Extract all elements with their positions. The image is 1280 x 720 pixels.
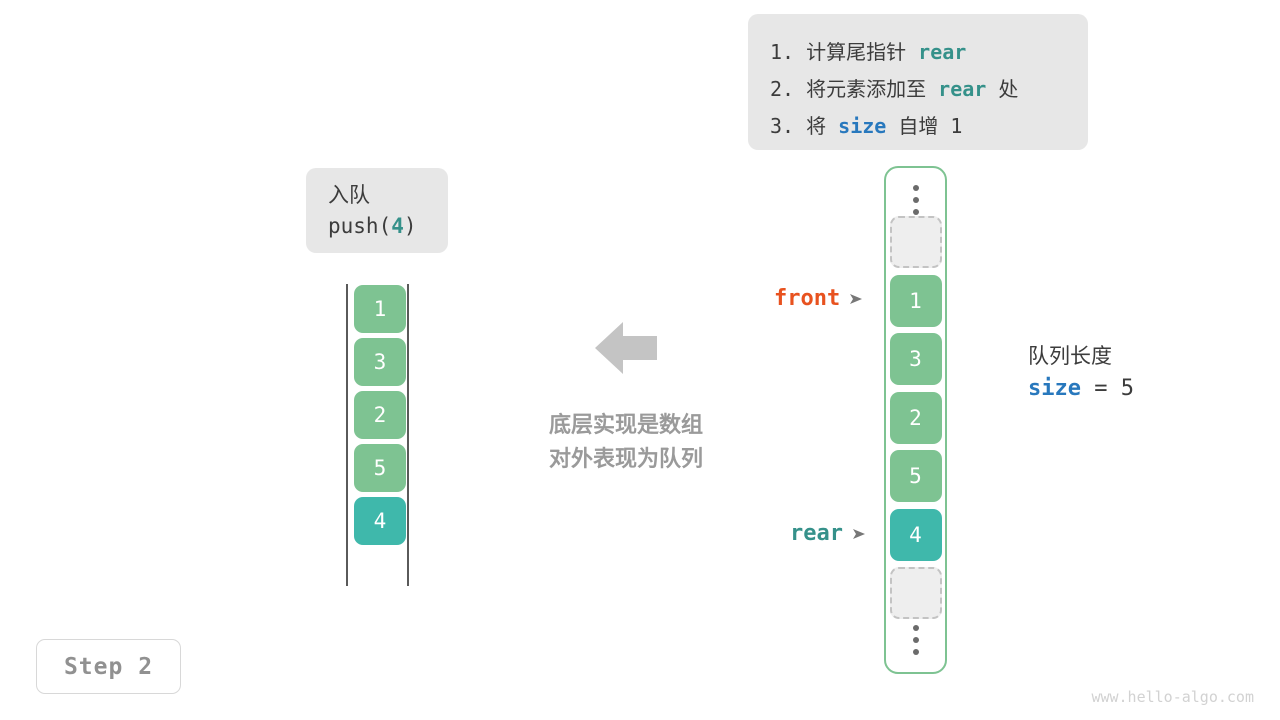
center-caption-line-2: 对外表现为队列 — [506, 442, 746, 476]
instruction-line-1-keyword: rear — [918, 40, 966, 64]
diagram-canvas: 1. 计算尾指针 rear 2. 将元素添加至 rear 处 3. 将 size… — [0, 0, 1280, 720]
size-equals: = — [1081, 376, 1121, 401]
center-caption: 底层实现是数组 对外表现为队列 — [506, 408, 746, 476]
queue-cell: 5 — [354, 444, 406, 492]
center-caption-line-1: 底层实现是数组 — [506, 408, 746, 442]
size-value: 5 — [1121, 376, 1134, 401]
instruction-panel: 1. 计算尾指针 rear 2. 将元素添加至 rear 处 3. 将 size… — [748, 14, 1088, 150]
front-pointer: front — [774, 286, 863, 311]
step-badge: Step 2 — [36, 639, 181, 694]
arrow-right-icon — [852, 527, 866, 541]
instruction-line-2-suffix: 处 — [986, 77, 1018, 101]
operation-label-box: 入队 push(4) — [306, 168, 448, 253]
array-slot-value: 4 — [909, 523, 922, 547]
queue-cell: 4 — [354, 497, 406, 545]
array-slot-value: 5 — [909, 464, 922, 488]
size-info-expression: size = 5 — [1028, 372, 1134, 406]
array-slot-value: 1 — [909, 289, 922, 313]
queue-cell-value: 2 — [374, 403, 387, 427]
instruction-line-3-keyword: size — [838, 114, 886, 138]
queue-rail-left — [346, 284, 348, 586]
rear-pointer: rear — [790, 521, 866, 546]
queue-cell-value: 4 — [374, 509, 387, 533]
queue-cell: 1 — [354, 285, 406, 333]
array-slot-value: 2 — [909, 406, 922, 430]
array-slot-empty — [890, 216, 942, 268]
queue-rail-right — [407, 284, 409, 586]
array-slot-filled: 5 — [890, 450, 942, 502]
array-slot-filled: 1 — [890, 275, 942, 327]
queue-cell-value: 1 — [374, 297, 387, 321]
operation-title: 入队 — [328, 181, 448, 211]
instruction-line-2: 2. 将元素添加至 rear 处 — [770, 71, 1088, 108]
arrow-right-icon — [849, 292, 863, 306]
operation-code-value: 4 — [391, 214, 404, 238]
array-container: 13254 — [884, 166, 947, 674]
watermark: www.hello-algo.com — [1091, 688, 1254, 706]
front-pointer-label: front — [774, 286, 840, 311]
size-info-title: 队列长度 — [1028, 341, 1134, 372]
queue-cell-value: 3 — [374, 350, 387, 374]
array-slot-filled: 4 — [890, 509, 942, 561]
queue-cell: 2 — [354, 391, 406, 439]
instruction-line-2-keyword: rear — [938, 77, 986, 101]
operation-code: push(4) — [328, 211, 448, 242]
array-slot-empty — [890, 567, 942, 619]
size-variable-name: size — [1028, 376, 1081, 401]
step-badge-label: Step 2 — [64, 654, 153, 680]
operation-code-suffix: ) — [404, 214, 417, 238]
array-slot-filled: 3 — [890, 333, 942, 385]
left-arrow-icon — [595, 322, 657, 374]
instruction-line-1: 1. 计算尾指针 rear — [770, 34, 1088, 71]
operation-code-prefix: push( — [328, 214, 391, 238]
rear-pointer-label: rear — [790, 521, 843, 546]
queue-cell-value: 5 — [374, 456, 387, 480]
array-slot-value: 3 — [909, 347, 922, 371]
size-info: 队列长度 size = 5 — [1028, 341, 1134, 406]
instruction-line-3-prefix: 3. 将 — [770, 114, 838, 138]
instruction-line-3-suffix: 自增 1 — [886, 114, 962, 138]
left-queue-view: 13254 — [335, 284, 425, 589]
instruction-line-1-prefix: 1. 计算尾指针 — [770, 40, 918, 64]
instruction-line-2-prefix: 2. 将元素添加至 — [770, 77, 938, 101]
array-slot-filled: 2 — [890, 392, 942, 444]
ellipsis-dots-bottom — [913, 625, 919, 655]
queue-cell: 3 — [354, 338, 406, 386]
instruction-line-3: 3. 将 size 自增 1 — [770, 108, 1088, 145]
ellipsis-dots-top — [913, 185, 919, 215]
